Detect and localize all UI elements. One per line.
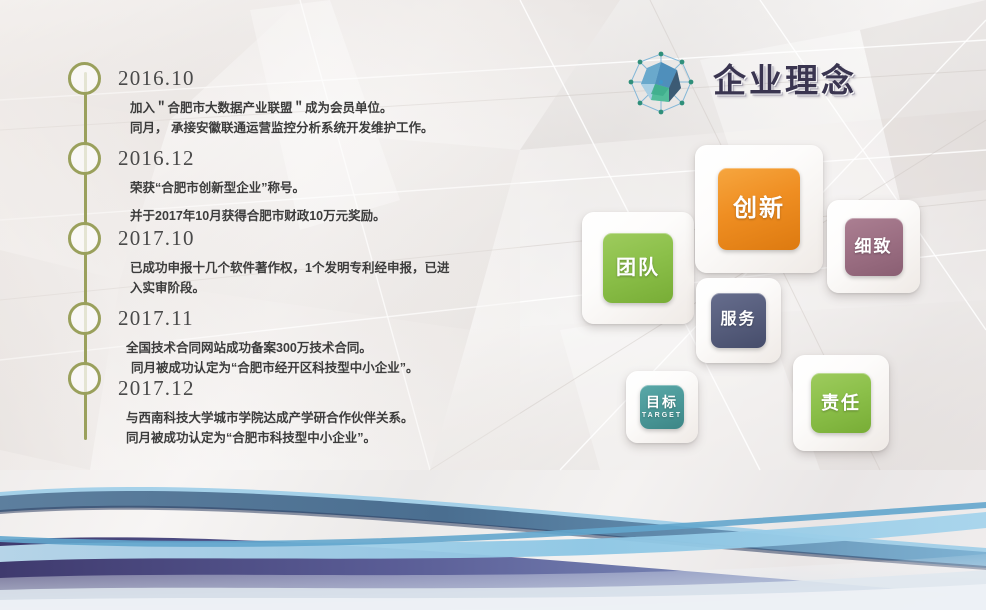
value-chip: 目标 TARGET xyxy=(640,385,684,429)
value-card-label: 责任 xyxy=(821,394,861,413)
timeline-detail-line: 与西南科技大学城市学院达成产学研合作伙伴关系。 xyxy=(126,408,414,428)
value-card-responsibility[interactable]: 责任 xyxy=(793,355,889,451)
timeline-node-4[interactable] xyxy=(68,362,101,395)
value-card-team[interactable]: 团队 xyxy=(582,212,694,324)
value-chip: 责任 xyxy=(811,373,871,433)
timeline-node-3[interactable] xyxy=(68,302,101,335)
value-card-sublabel: TARGET xyxy=(642,412,682,419)
value-chip: 团队 xyxy=(603,233,673,303)
timeline-detail-line: 已成功申报十几个软件著作权，1个发明专利经申报，已进入实审阶段。 xyxy=(130,258,460,298)
timeline-detail-line: 全国技术合同网站成功备案300万技术合同。 xyxy=(126,338,419,358)
value-card-label: 创新 xyxy=(733,196,785,221)
timeline-node-1[interactable] xyxy=(68,142,101,175)
page-title: 企业理念 xyxy=(713,54,857,108)
timeline-detail-line: 荣获“合肥市创新型企业”称号。 xyxy=(130,178,386,198)
timeline-date: 2017.10 xyxy=(118,228,460,249)
timeline-date: 2016.12 xyxy=(118,148,386,169)
decorative-wave-footer xyxy=(0,450,986,610)
timeline-detail-list: 加入＂合肥市大数据产业联盟＂成为会员单位。 同月， 承接安徽联通运营监控分析系统… xyxy=(118,98,433,138)
timeline-detail-line: 同月， 承接安徽联通运营监控分析系统开发维护工作。 xyxy=(130,118,433,138)
value-card-label: 目标 xyxy=(646,395,678,410)
section-heading: 企业理念 xyxy=(625,48,945,120)
value-card-meticulous[interactable]: 细致 xyxy=(827,200,920,293)
timeline-detail-line: 加入＂合肥市大数据产业联盟＂成为会员单位。 xyxy=(130,98,433,118)
value-chip: 细致 xyxy=(845,218,903,276)
value-card-service[interactable]: 服务 xyxy=(696,278,781,363)
timeline-entry-0[interactable]: 2016.10 加入＂合肥市大数据产业联盟＂成为会员单位。 同月， 承接安徽联通… xyxy=(118,68,433,138)
value-card-innovation[interactable]: 创新 xyxy=(695,145,823,273)
timeline-detail-line: 并于2017年10月获得合肥市财政10万元奖励。 xyxy=(130,206,386,226)
timeline-detail-line: 同月被成功认定为“合肥市经开区科技型中小企业”。 xyxy=(126,358,419,378)
timeline-detail-list: 全国技术合同网站成功备案300万技术合同。 同月被成功认定为“合肥市经开区科技型… xyxy=(118,338,419,378)
timeline-detail-line: 同月被成功认定为“合肥市科技型中小企业”。 xyxy=(126,428,414,448)
value-chip: 创新 xyxy=(718,168,800,250)
timeline-detail-list: 已成功申报十几个软件著作权，1个发明专利经申报，已进入实审阶段。 xyxy=(118,258,460,298)
timeline-detail-list: 与西南科技大学城市学院达成产学研合作伙伴关系。 同月被成功认定为“合肥市科技型中… xyxy=(118,408,414,448)
timeline-node-2[interactable] xyxy=(68,222,101,255)
timeline-entry-4[interactable]: 2017.12 与西南科技大学城市学院达成产学研合作伙伴关系。 同月被成功认定为… xyxy=(118,378,414,448)
value-card-label: 细致 xyxy=(855,238,893,256)
timeline-date: 2017.12 xyxy=(118,378,414,399)
value-card-label: 团队 xyxy=(616,258,660,279)
value-card-label: 服务 xyxy=(720,312,756,329)
company-timeline: 2016.10 加入＂合肥市大数据产业联盟＂成为会员单位。 同月， 承接安徽联通… xyxy=(0,0,520,470)
timeline-entry-3[interactable]: 2017.11 全国技术合同网站成功备案300万技术合同。 同月被成功认定为“合… xyxy=(118,308,419,378)
timeline-date: 2017.11 xyxy=(118,308,419,329)
polygon-crystal-network-icon xyxy=(625,48,697,120)
timeline-detail-list: 荣获“合肥市创新型企业”称号。 并于2017年10月获得合肥市财政10万元奖励。 xyxy=(118,178,386,226)
value-card-target[interactable]: 目标 TARGET xyxy=(626,371,698,443)
timeline-entry-1[interactable]: 2016.12 荣获“合肥市创新型企业”称号。 并于2017年10月获得合肥市财… xyxy=(118,148,386,226)
timeline-node-0[interactable] xyxy=(68,62,101,95)
timeline-date: 2016.10 xyxy=(118,68,433,89)
timeline-entry-2[interactable]: 2017.10 已成功申报十几个软件著作权，1个发明专利经申报，已进入实审阶段。 xyxy=(118,228,460,298)
value-chip: 服务 xyxy=(711,293,766,348)
slide-canvas: 2016.10 加入＂合肥市大数据产业联盟＂成为会员单位。 同月， 承接安徽联通… xyxy=(0,0,986,610)
